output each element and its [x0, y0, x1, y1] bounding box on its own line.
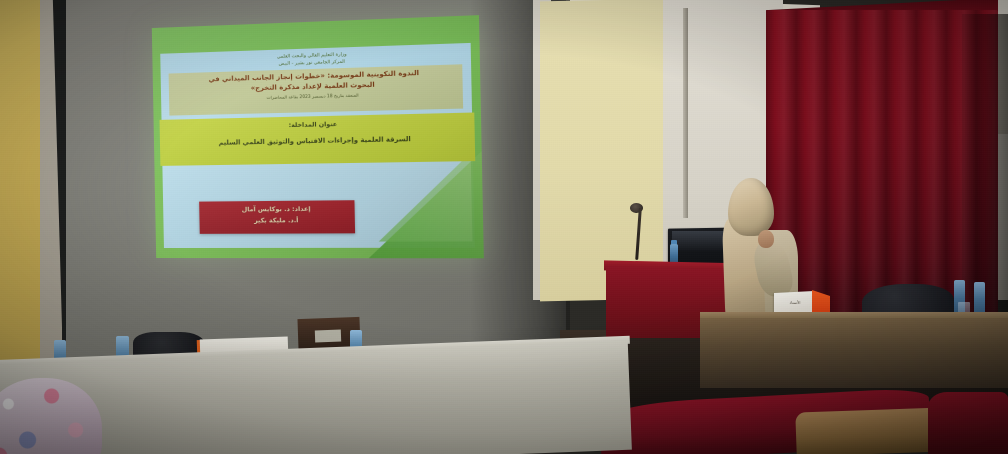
- foreground-chair-notch: [315, 330, 341, 343]
- presenter-hand: [758, 230, 774, 248]
- audience-seat-red-2: [928, 392, 1008, 454]
- conference-photo-scene: وزارة التعليم العالي والبحث العلمي المرك…: [0, 0, 1008, 454]
- topic-title: السرقة العلمية وإجراءات الاقتباس والتوثي…: [160, 132, 475, 149]
- audience-seat-wood: [795, 407, 946, 454]
- author-line-2: أ.د. مليكة بكير: [199, 216, 355, 228]
- slide-authors-band: إعداد: د. بوكايس آمال أ.د. مليكة بكير: [199, 200, 355, 234]
- foreground-attendee-headscarf: [0, 378, 102, 454]
- wall-cream-panel: [540, 0, 670, 301]
- slide-canvas: وزارة التعليم العالي والبحث العلمي المرك…: [152, 15, 484, 258]
- foreground-attendee: [0, 378, 112, 454]
- wall-corner-pipe: [683, 8, 688, 218]
- slide-topic-band: عنوان المداخلة: السرقة العلمية وإجراءات …: [160, 113, 476, 166]
- name-placard-text: الأستاذ: [782, 300, 808, 305]
- projected-slide: وزارة التعليم العالي والبحث العلمي المرك…: [152, 15, 484, 258]
- presenter-headscarf: [728, 178, 774, 236]
- wooden-table: [700, 318, 1008, 388]
- topic-label: عنوان المداخلة:: [160, 117, 475, 134]
- slide-seminar-title-band: الندوة التكوينية الموسومة: «خطوات إنجاز …: [169, 64, 464, 115]
- curtain-shadow-edge: [962, 14, 1008, 340]
